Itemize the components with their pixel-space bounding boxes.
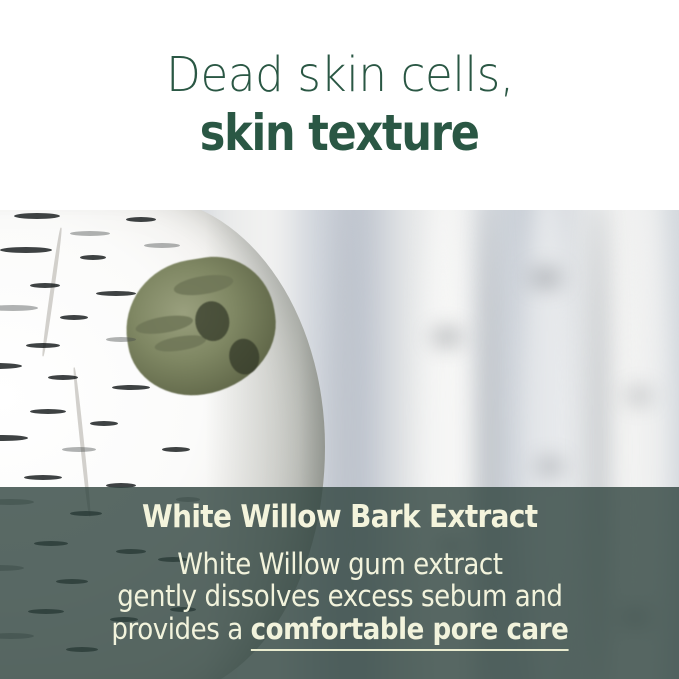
bark-crack — [41, 227, 63, 356]
description-line-3: provides a comfortable pore care — [111, 613, 568, 645]
headline-line-1: Dead skin cells, — [166, 50, 514, 101]
lichen-frill — [154, 332, 208, 354]
background-bark-mark — [536, 459, 564, 474]
headline-block: Dead skin cells, skin texture — [0, 0, 679, 210]
description-line-1: White Willow gum extract — [111, 548, 568, 580]
lichen-frill — [173, 272, 235, 299]
ingredient-description: White Willow gum extract gently dissolve… — [86, 548, 594, 645]
description-line-2: gently dissolves excess sebum and — [111, 580, 568, 612]
lichen-frill — [134, 312, 194, 337]
background-bark-mark — [530, 269, 562, 287]
description-emphasis: comfortable pore care — [250, 612, 568, 651]
ingredient-title: White Willow Bark Extract — [142, 498, 538, 537]
background-bark-mark — [432, 329, 462, 345]
headline-line-2: skin texture — [200, 106, 479, 160]
background-bark-mark — [626, 389, 652, 403]
product-ingredient-card: Dead skin cells, skin texture — [0, 0, 679, 679]
description-line-3-prefix: provides a — [111, 612, 250, 646]
ingredient-caption-band: White Willow Bark Extract White Willow g… — [0, 487, 679, 679]
